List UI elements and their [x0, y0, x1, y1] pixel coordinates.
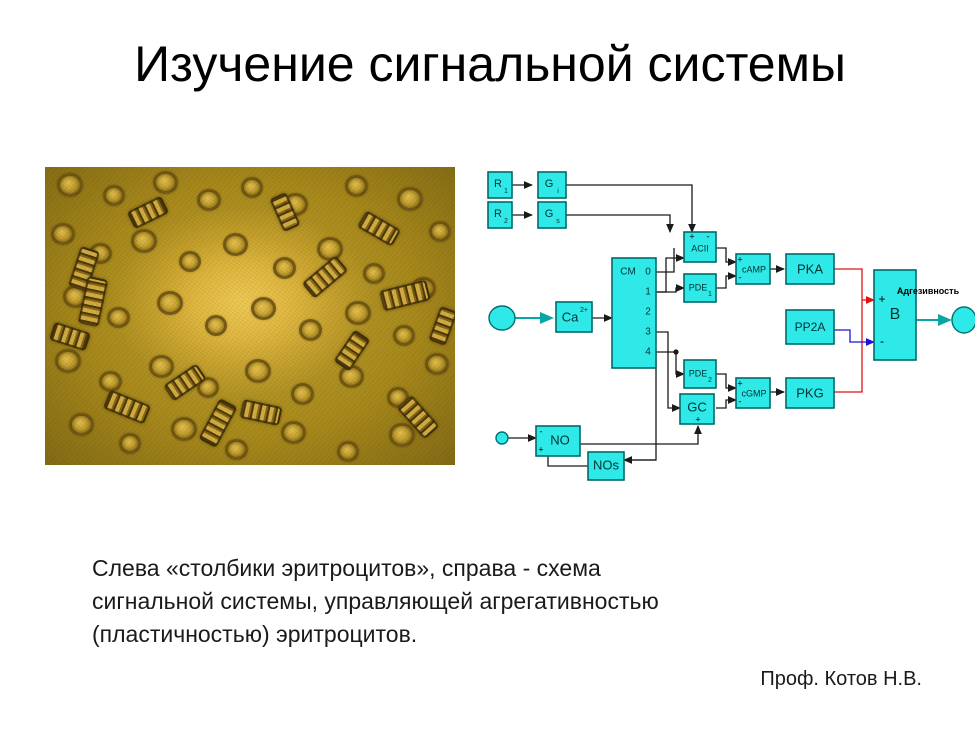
block-gs-subscript: s: [556, 218, 560, 225]
slide-caption: Слева «столбики эритроцитов», справа - с…: [92, 552, 792, 651]
page-title: Изучение сигнальной системы: [0, 34, 980, 94]
block-r1-label: R: [494, 178, 502, 190]
wire-pkg-b-activating: [834, 300, 862, 392]
block-gc-label: GC: [687, 399, 707, 414]
caption-line-3: (пластичностью) эритроцитов.: [92, 618, 792, 651]
wire-junction-dot: [673, 349, 678, 354]
input-node-calcium[interactable]: [489, 306, 515, 330]
no-minus-sign: -: [540, 426, 543, 436]
wire-cm4-pde2: [656, 352, 684, 374]
block-r1-subscript: 1: [504, 188, 508, 195]
wire-cm0-acii-seg: [656, 248, 674, 272]
wire-gi-acii: [566, 185, 692, 232]
cm-output-4: 4: [645, 347, 651, 358]
b-minus-sign: -: [880, 334, 884, 348]
block-camp-label: cAMP: [742, 264, 766, 274]
block-no-label: NO: [550, 432, 570, 447]
camp-plus-sign: +: [737, 254, 742, 264]
wire-acii-camp: [716, 248, 736, 262]
b-plus-sign: +: [878, 292, 885, 306]
wire-cm-pde1: [656, 288, 684, 292]
wire-pp2a-b-inhibiting: [834, 330, 874, 342]
block-pka-label: PKA: [797, 261, 823, 276]
cgmp-plus-sign: +: [737, 378, 742, 388]
acii-minus-sign: -: [707, 231, 710, 241]
erythrocyte-micrograph: [45, 167, 455, 465]
cgmp-minus-sign: -: [739, 396, 742, 406]
camp-minus-sign: -: [739, 272, 742, 282]
wire-gc-cgmp: [716, 400, 736, 408]
cm-output-1: 1: [645, 287, 651, 298]
no-plus-sign: +: [538, 444, 543, 454]
block-pde2-subscript: 2: [708, 377, 712, 384]
cm-output-2: 2: [645, 307, 651, 318]
block-calcium-superscript: 2+: [580, 307, 588, 314]
caption-line-1: Слева «столбики эритроцитов», справа - с…: [92, 552, 792, 585]
wire-cm1-acii: [656, 258, 684, 292]
signalling-diagram: R 1 R 2 G i G s Ca 2+ CM 0 1 2 3 4 ACII …: [470, 160, 975, 500]
block-pde1-subscript: 1: [708, 291, 712, 298]
arrowhead-adhesion: [938, 314, 952, 326]
wire-pde1-camp: [716, 276, 736, 288]
author-attribution: Проф. Котов Н.В.: [760, 668, 922, 691]
block-r2-label: R: [494, 208, 502, 220]
wire-pka-b-activating: [834, 269, 874, 300]
block-b-label: B: [890, 306, 901, 323]
block-gs-label: G: [545, 208, 554, 220]
block-pkg-label: PKG: [796, 385, 823, 400]
block-pde2-label: PDE: [689, 368, 708, 378]
output-label-adhesion: Адгезивность: [897, 286, 960, 296]
wire-gs-acii: [566, 215, 670, 232]
block-pde1-label: PDE: [689, 282, 708, 292]
input-node-no[interactable]: [496, 432, 508, 444]
wire-no-gc: [580, 426, 698, 444]
cm-output-3: 3: [645, 327, 651, 338]
acii-plus-sign: +: [689, 231, 694, 241]
output-node-adhesion[interactable]: [952, 307, 975, 333]
block-gi-label: G: [545, 178, 554, 190]
block-pp2a-label: PP2A: [795, 320, 826, 334]
block-nos-label: NOs: [593, 457, 620, 472]
caption-line-2: сигнальной системы, управляющей агрегати…: [92, 585, 792, 618]
block-acii-label: ACII: [691, 243, 709, 253]
block-cm-label: CM: [620, 267, 636, 278]
arrowhead-ca: [540, 312, 554, 324]
micrograph-grain: [45, 167, 455, 465]
block-cgmp-label: cGMP: [741, 388, 766, 398]
block-calcium-label: Ca: [562, 309, 579, 324]
wire-pde2-cgmp: [716, 374, 736, 388]
cm-output-0: 0: [645, 267, 651, 278]
block-r2-subscript: 2: [504, 218, 508, 225]
gc-plus-sign: +: [695, 414, 700, 424]
